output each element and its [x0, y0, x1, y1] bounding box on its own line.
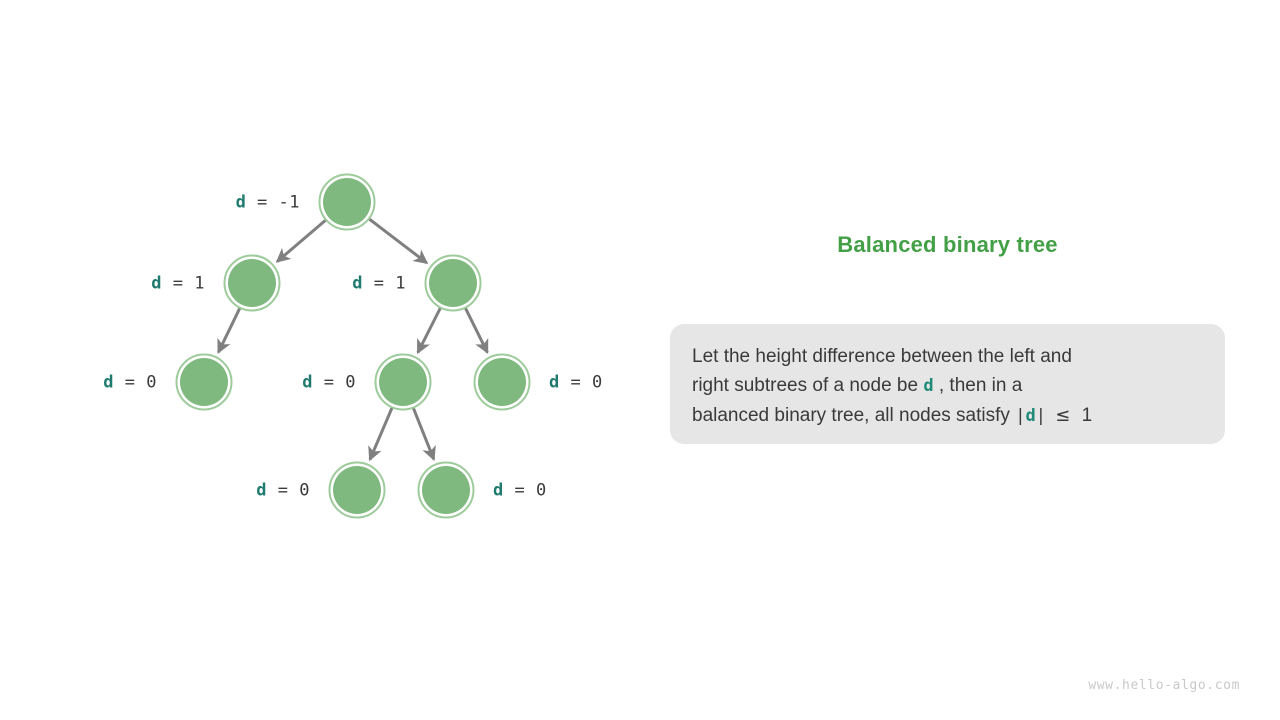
- tree-nodes: [177, 175, 530, 518]
- tree-edge-n-r-to-n-rl: [418, 308, 441, 353]
- label-variable-d: d: [549, 373, 560, 393]
- tree-node-n-rlr[interactable]: [419, 463, 474, 518]
- description-callout-box: Let the height difference between the le…: [670, 324, 1225, 444]
- node-label-n-rr: d = 0: [549, 375, 603, 392]
- tree-edge-root-to-n-l: [277, 220, 326, 261]
- tree-node-n-l[interactable]: [225, 256, 280, 311]
- node-label-n-r: d = 1: [352, 276, 406, 293]
- node-body: [333, 466, 381, 514]
- tree-edge-n-l-to-n-ll: [218, 308, 239, 352]
- label-value: = 0: [504, 481, 547, 501]
- binary-tree-diagram: d = -1d = 1d = 1d = 0d = 0d = 0d = 0d = …: [0, 0, 660, 720]
- bound-value: 1: [1082, 405, 1093, 426]
- node-label-n-l: d = 1: [151, 276, 205, 293]
- description-line-2-suffix: , then in a: [939, 375, 1022, 396]
- label-variable-d: d: [302, 373, 313, 393]
- node-label-n-rlr: d = 0: [493, 483, 547, 500]
- node-body: [180, 358, 228, 406]
- tree-node-root[interactable]: [320, 175, 375, 230]
- description-line-2-prefix: right subtrees of a node be: [692, 375, 918, 396]
- label-value: = 1: [162, 274, 205, 294]
- label-variable-d: d: [256, 481, 267, 501]
- label-variable-d: d: [493, 481, 504, 501]
- tree-graphics: [0, 0, 660, 720]
- less-equal-symbol: ≤: [1051, 405, 1076, 426]
- label-value: = 1: [363, 274, 406, 294]
- label-value: = 0: [313, 373, 356, 393]
- tree-edge-n-rl-to-n-rll: [370, 408, 392, 460]
- abs-bar-close: |: [1036, 406, 1046, 426]
- site-watermark: www.hello-algo.com: [1088, 678, 1240, 693]
- variable-d-inline: d: [923, 376, 933, 396]
- tree-node-n-rll[interactable]: [330, 463, 385, 518]
- node-body: [478, 358, 526, 406]
- label-value: = 0: [267, 481, 310, 501]
- description-line-1: Let the height difference between the le…: [692, 346, 1072, 367]
- tree-node-n-r[interactable]: [426, 256, 481, 311]
- node-body: [429, 259, 477, 307]
- variable-d-abs: d: [1025, 406, 1035, 426]
- node-label-n-rll: d = 0: [256, 483, 310, 500]
- label-value: = -1: [246, 193, 300, 213]
- page-title: Balanced binary tree: [660, 232, 1235, 258]
- node-body: [228, 259, 276, 307]
- label-variable-d: d: [236, 193, 247, 213]
- label-variable-d: d: [352, 274, 363, 294]
- tree-edge-root-to-n-r: [369, 219, 427, 263]
- abs-bar-open: |: [1015, 406, 1025, 426]
- node-body: [422, 466, 470, 514]
- description-text: Let the height difference between the le…: [692, 342, 1203, 431]
- label-value: = 0: [114, 373, 157, 393]
- slide-canvas: d = -1d = 1d = 1d = 0d = 0d = 0d = 0d = …: [0, 0, 1280, 720]
- tree-edge-n-r-to-n-rr: [465, 308, 487, 352]
- tree-edge-n-rl-to-n-rlr: [413, 408, 433, 459]
- tree-node-n-rl[interactable]: [376, 355, 431, 410]
- description-line-3-prefix: balanced binary tree, all nodes satisfy: [692, 405, 1010, 426]
- node-label-n-rl: d = 0: [302, 375, 356, 392]
- node-body: [323, 178, 371, 226]
- node-label-root: d = -1: [236, 195, 300, 212]
- tree-edges: [218, 219, 487, 460]
- node-label-n-ll: d = 0: [103, 375, 157, 392]
- tree-node-n-rr[interactable]: [475, 355, 530, 410]
- tree-node-n-ll[interactable]: [177, 355, 232, 410]
- label-variable-d: d: [103, 373, 114, 393]
- node-body: [379, 358, 427, 406]
- label-variable-d: d: [151, 274, 162, 294]
- label-value: = 0: [560, 373, 603, 393]
- explanation-panel: Balanced binary tree Let the height diff…: [660, 0, 1280, 720]
